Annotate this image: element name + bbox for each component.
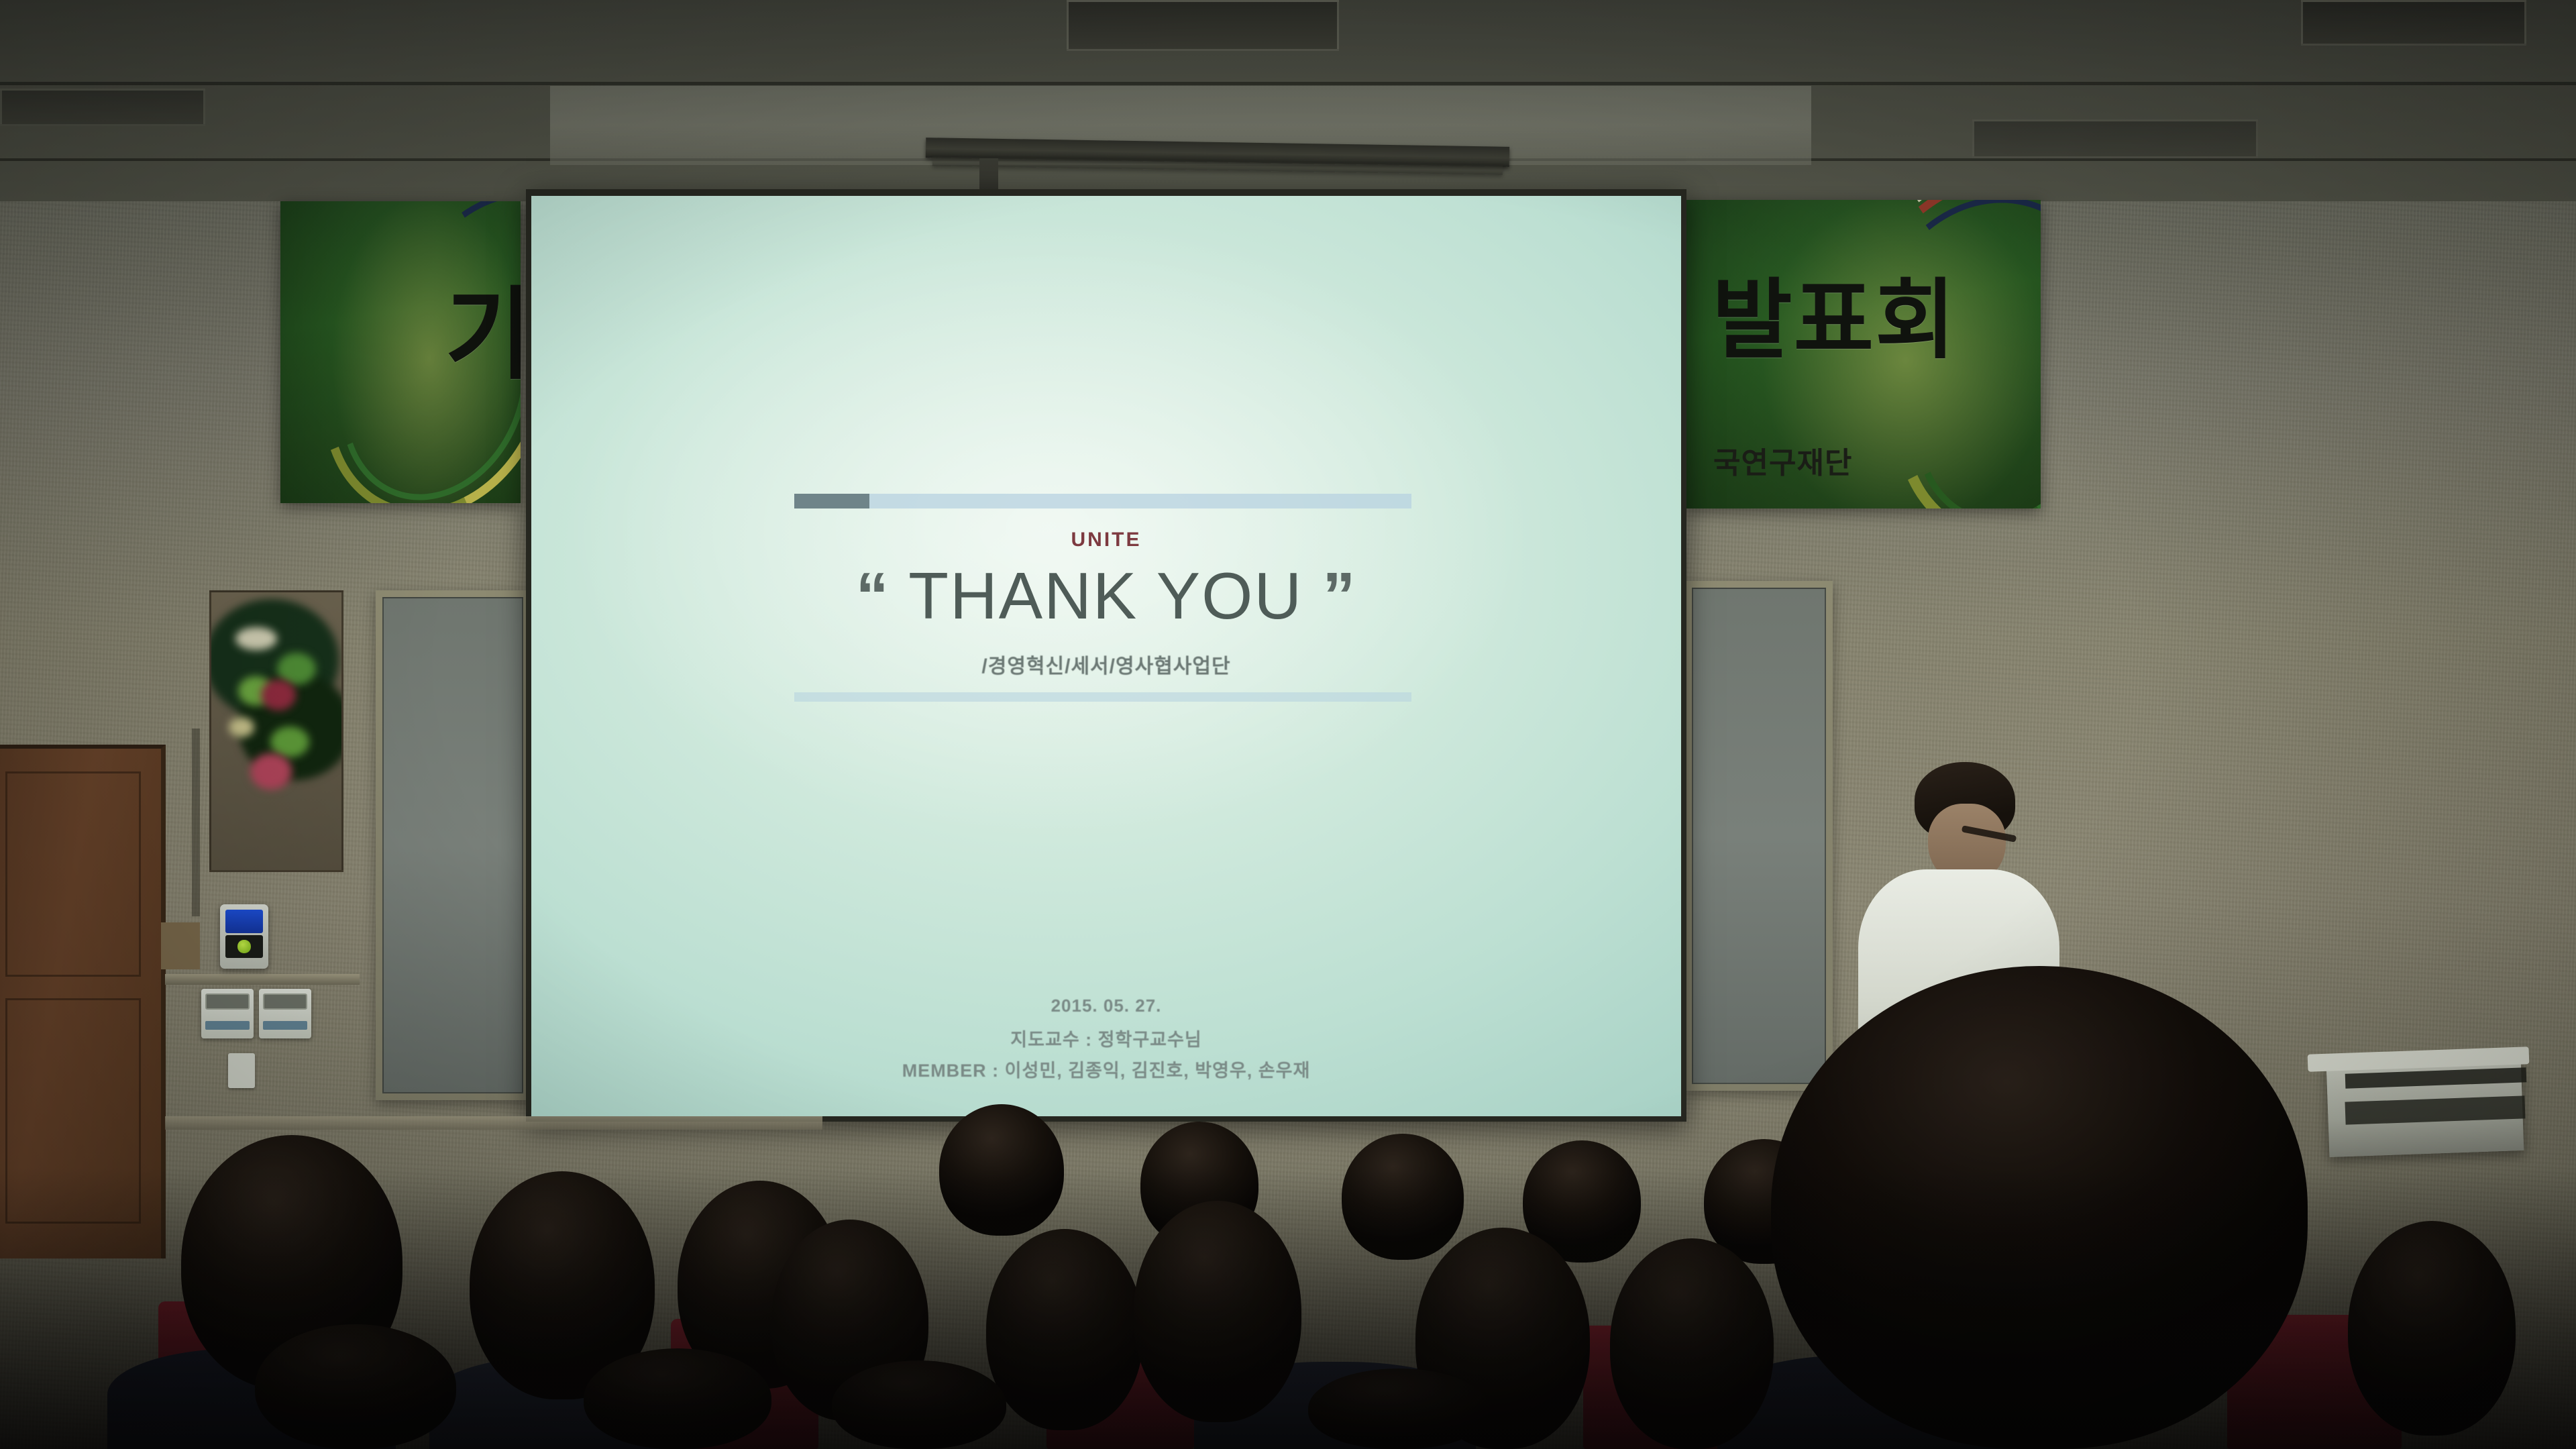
ceiling-seam-1 xyxy=(0,82,2576,85)
banner-right-title: 발표회 xyxy=(1712,279,1957,362)
audience-head xyxy=(584,1348,771,1449)
banner-right: 발표회 국연구재단 xyxy=(1685,200,2041,508)
audience-head xyxy=(939,1104,1064,1236)
slide-open-quote: “ xyxy=(856,559,890,633)
projection-screen: UNITE “ THANK YOU ” /경영혁신/세서/영사협사업단 2015… xyxy=(531,196,1681,1116)
audience-head xyxy=(255,1324,456,1449)
audience-head xyxy=(2348,1221,2516,1436)
audience-head xyxy=(1308,1368,1489,1449)
slide-subtitle: /경영혁신/세서/영사협사업단 xyxy=(531,649,1681,679)
ceiling-vent-right xyxy=(2301,0,2526,46)
slide-close-quote: ” xyxy=(1322,559,1356,633)
wreath-leaf-green-3 xyxy=(270,727,309,757)
whiteboard-left-surface xyxy=(382,597,523,1093)
slide-bar-light xyxy=(869,494,1411,508)
audience-head xyxy=(1610,1238,1774,1449)
banner-left: 가 xyxy=(280,201,521,503)
projector-panel-window xyxy=(205,994,250,1010)
wall-ledge-long xyxy=(165,1116,822,1130)
lighting-panel-window xyxy=(263,994,307,1010)
audience-head xyxy=(986,1229,1143,1430)
room-door[interactable] xyxy=(0,745,166,1258)
slide-bottom-bar xyxy=(794,692,1411,702)
card-reader-indicator-led xyxy=(237,940,250,953)
audience-head-foreground xyxy=(1771,966,2308,1449)
projector-panel-label xyxy=(205,1021,250,1030)
wreath-accent-cream xyxy=(229,717,254,737)
audience-head xyxy=(1134,1201,1301,1422)
wall-ledge xyxy=(165,974,360,985)
wall-outlet-plate xyxy=(228,1053,255,1088)
slide-title-text: THANK YOU xyxy=(908,559,1303,633)
whiteboard-right xyxy=(1685,581,1833,1091)
banner-right-subtitle: 국연구재단 xyxy=(1713,439,1852,482)
slide-thank-you: UNITE “ THANK YOU ” /경영혁신/세서/영사협사업단 2015… xyxy=(531,196,1681,1116)
slide-logo-text: UNITE xyxy=(531,529,1681,551)
projector-control-panel[interactable] xyxy=(201,989,254,1038)
lecture-hall-photo: 가 발표회 국연구재단 UNITE “ TH xyxy=(0,0,2576,1449)
card-reader-display xyxy=(225,910,263,933)
door-panel-lower xyxy=(5,998,141,1224)
slide-footer-members: MEMBER : 이성민, 김종익, 김진호, 박영우, 손우재 xyxy=(531,1056,1681,1082)
congratulatory-flower-arrangement xyxy=(209,590,343,872)
slide-footer-date: 2015. 05. 27. xyxy=(531,996,1681,1016)
card-reader-keypad[interactable] xyxy=(225,935,263,958)
door-panel-upper xyxy=(5,771,141,977)
banner-left-text: 가 xyxy=(445,287,521,383)
audience-head xyxy=(832,1360,1006,1449)
wall-conduit xyxy=(192,729,200,916)
slide-top-bar xyxy=(794,494,1411,508)
lighting-control-panel[interactable] xyxy=(259,989,311,1038)
door-frame-strip xyxy=(161,922,200,969)
ceiling-vent-center xyxy=(1067,0,1339,51)
audience-head xyxy=(1342,1134,1464,1260)
ceiling-vent-left xyxy=(0,89,205,126)
access-card-reader[interactable] xyxy=(220,904,268,969)
whiteboard-right-surface xyxy=(1692,588,1826,1084)
wreath-rose-pink-1 xyxy=(261,680,296,710)
slide-footer-advisor: 지도교수 : 정학구교수님 xyxy=(531,1025,1681,1051)
ceiling-vent-far-right xyxy=(1972,119,2258,158)
wreath-accent-white xyxy=(235,627,277,650)
lighting-panel-label xyxy=(263,1021,307,1030)
slide-title: “ THANK YOU ” xyxy=(531,558,1681,634)
slide-bar-accent xyxy=(794,494,869,508)
whiteboard-left xyxy=(376,590,530,1100)
wreath-rose-pink-2 xyxy=(250,753,292,790)
